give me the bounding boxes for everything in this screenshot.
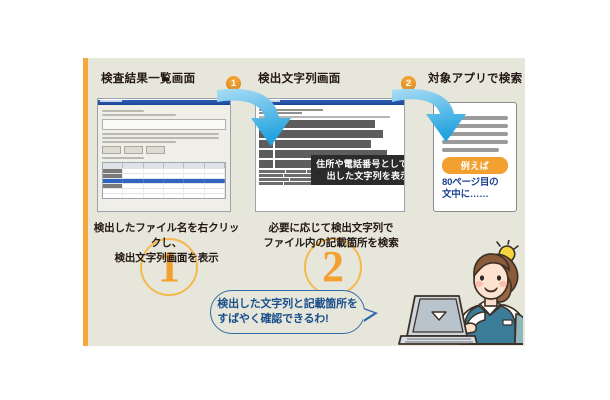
doc-line [442, 140, 508, 144]
speech-bubble-tail-inner [363, 309, 374, 320]
column-heading-search-in-app: 対象アプリで検索 [428, 70, 522, 86]
screenshot-scan-results [97, 98, 231, 212]
step-badge-1: 1 [226, 76, 241, 91]
target-app-document: 例えば 80ページ目の 文中に…… [433, 102, 517, 212]
speech-bubble-text: 検出した文字列と記載箇所を すばやく確認できるわ! [217, 297, 357, 327]
speech-bubble: 検出した文字列と記載箇所を すばやく確認できるわ! [210, 290, 365, 334]
window-body [98, 105, 230, 212]
example-badge: 例えば [442, 157, 508, 174]
doc-line [442, 124, 508, 128]
content-panel: 検査結果一覧画面 検出文字列画面 対象アプリで検索 1 2 [83, 58, 525, 346]
doc-line [442, 148, 499, 152]
column-heading-scan-results: 検査結果一覧画面 [101, 70, 195, 86]
figure-canvas: 検査結果一覧画面 検出文字列画面 対象アプリで検索 1 2 [0, 0, 610, 400]
example-text: 80ページ目の 文中に…… [442, 177, 508, 201]
results-table [102, 162, 226, 199]
character-illustration [383, 240, 523, 348]
callout-detected-string-label: 住所や電話番号として 検出した文字列を表示 [311, 155, 405, 185]
doc-line [442, 116, 508, 120]
panel-accent-bar [83, 58, 88, 346]
screenshot-detected-strings: 住所や電話番号として 検出した文字列を表示 [255, 98, 405, 212]
step-badge-2: 2 [401, 76, 416, 91]
table-row-selected [103, 178, 225, 183]
doc-line [442, 132, 508, 136]
step-caption-1: 検出したファイル名を右クリックし、 検出文字列画面を表示 [89, 221, 244, 267]
column-heading-detected-strings: 検出文字列画面 [258, 70, 341, 86]
